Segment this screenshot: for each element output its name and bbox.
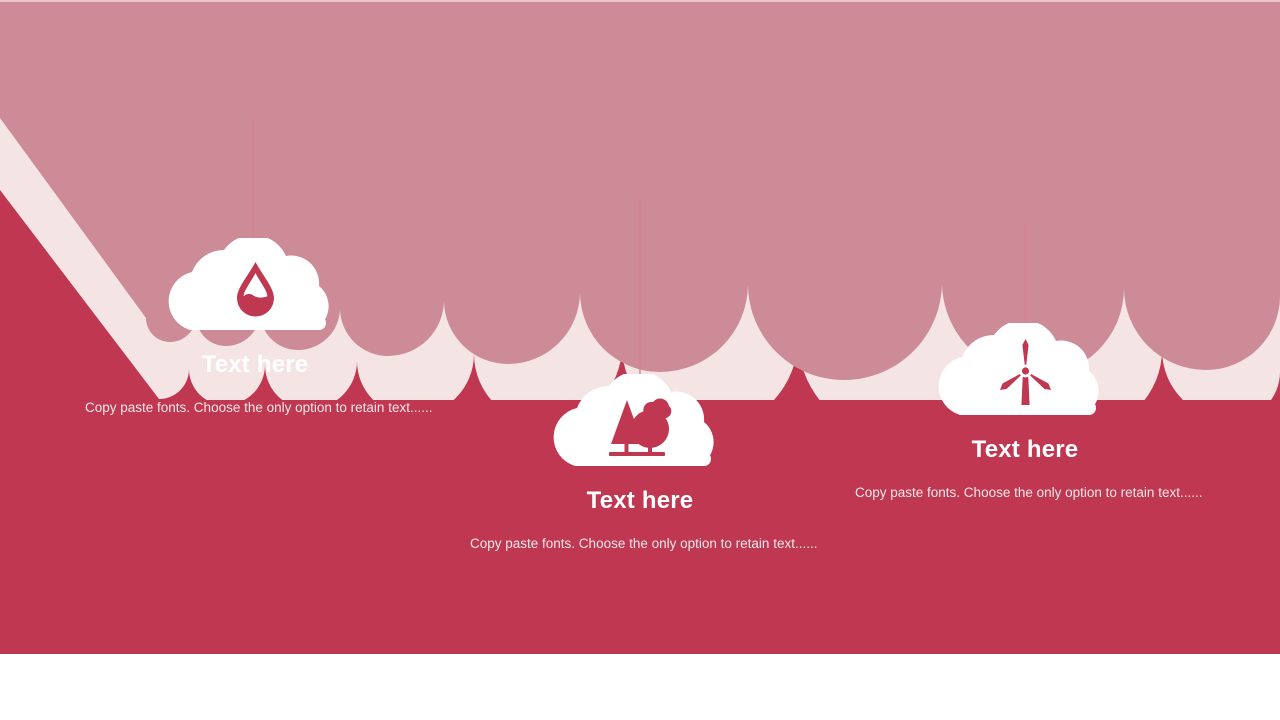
hanging-cloud-3 bbox=[938, 323, 1113, 423]
item-title: Text here bbox=[470, 488, 810, 514]
water-drop-icon[interactable] bbox=[168, 238, 343, 338]
hanging-cloud-1 bbox=[168, 238, 343, 338]
feature-item-2[interactable]: Text here Copy paste fonts. Choose the o… bbox=[470, 374, 810, 554]
item-body: Copy paste fonts. Choose the only option… bbox=[470, 535, 810, 553]
feature-item-1[interactable]: Text here Copy paste fonts. Choose the o… bbox=[85, 238, 425, 418]
top-hairline bbox=[0, 0, 1280, 2]
item-body: Copy paste fonts. Choose the only option… bbox=[85, 399, 425, 417]
trees-forest-icon[interactable] bbox=[553, 374, 728, 474]
hanging-cloud-2 bbox=[553, 374, 728, 474]
item-title: Text here bbox=[85, 352, 425, 378]
feature-item-3[interactable]: Text here Copy paste fonts. Choose the o… bbox=[855, 323, 1195, 503]
bottom-white-strip bbox=[0, 654, 1280, 720]
item-title: Text here bbox=[855, 437, 1195, 463]
cloud-scene: Text here Copy paste fonts. Choose the o… bbox=[0, 0, 1280, 654]
cloud-shape-3 bbox=[938, 323, 1098, 415]
wind-turbine-icon[interactable] bbox=[938, 323, 1113, 423]
slide-canvas: Text here Copy paste fonts. Choose the o… bbox=[0, 0, 1280, 720]
item-body: Copy paste fonts. Choose the only option… bbox=[855, 484, 1195, 502]
